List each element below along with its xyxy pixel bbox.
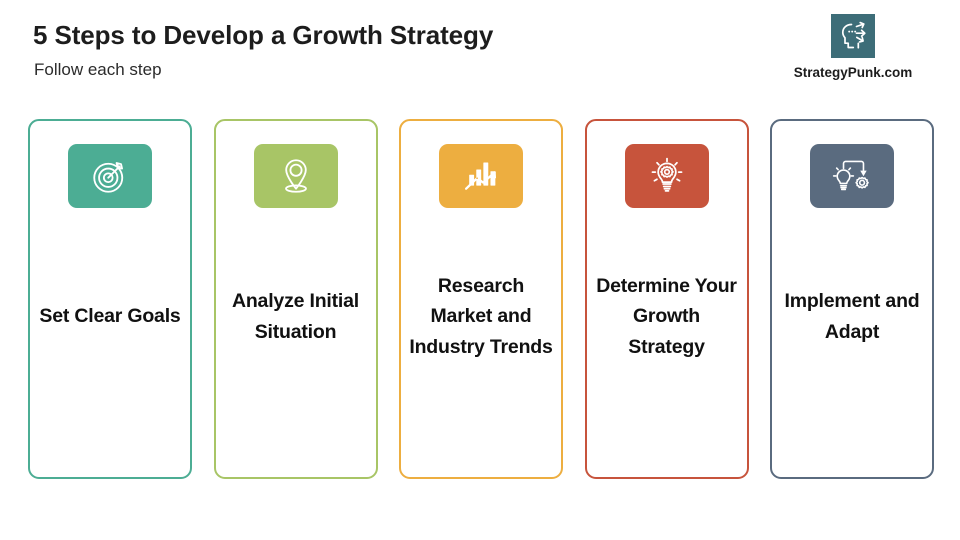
step-card-1-label-wrap: Set Clear Goals xyxy=(30,208,190,477)
brand-logo: StrategyPunk.com xyxy=(768,14,938,80)
lightbulb-gear-icon xyxy=(625,144,709,208)
step-card-2-label: Analyze Initial Situation xyxy=(216,286,376,347)
target-arrow-icon xyxy=(68,144,152,208)
brand-name: StrategyPunk.com xyxy=(794,65,913,80)
step-card-3-label: Research Market and Industry Trends xyxy=(401,271,561,363)
step-card-4[interactable]: Determine Your Growth Strategy xyxy=(585,119,749,479)
bar-chart-trending-up-icon xyxy=(439,144,523,208)
page-subtitle: Follow each step xyxy=(34,60,162,80)
steps-card-row: Set Clear Goals Analyze Initial Situatio… xyxy=(28,119,934,479)
step-card-4-label: Determine Your Growth Strategy xyxy=(587,271,747,363)
step-card-4-label-wrap: Determine Your Growth Strategy xyxy=(587,208,747,477)
location-pin-icon xyxy=(254,144,338,208)
step-card-3[interactable]: Research Market and Industry Trends xyxy=(399,119,563,479)
step-card-5-label-wrap: Implement and Adapt xyxy=(772,208,932,477)
head-profile-arrows-icon xyxy=(831,14,875,58)
step-card-3-label-wrap: Research Market and Industry Trends xyxy=(401,208,561,477)
page-title: 5 Steps to Develop a Growth Strategy xyxy=(33,20,493,51)
step-card-1[interactable]: Set Clear Goals xyxy=(28,119,192,479)
step-card-5-label: Implement and Adapt xyxy=(772,286,932,347)
slide-header: 5 Steps to Develop a Growth Strategy Fol… xyxy=(0,0,960,110)
step-card-5[interactable]: Implement and Adapt xyxy=(770,119,934,479)
lightbulb-gear-arrow-icon xyxy=(810,144,894,208)
step-card-2-label-wrap: Analyze Initial Situation xyxy=(216,208,376,477)
step-card-1-label: Set Clear Goals xyxy=(31,301,188,332)
step-card-2[interactable]: Analyze Initial Situation xyxy=(214,119,378,479)
